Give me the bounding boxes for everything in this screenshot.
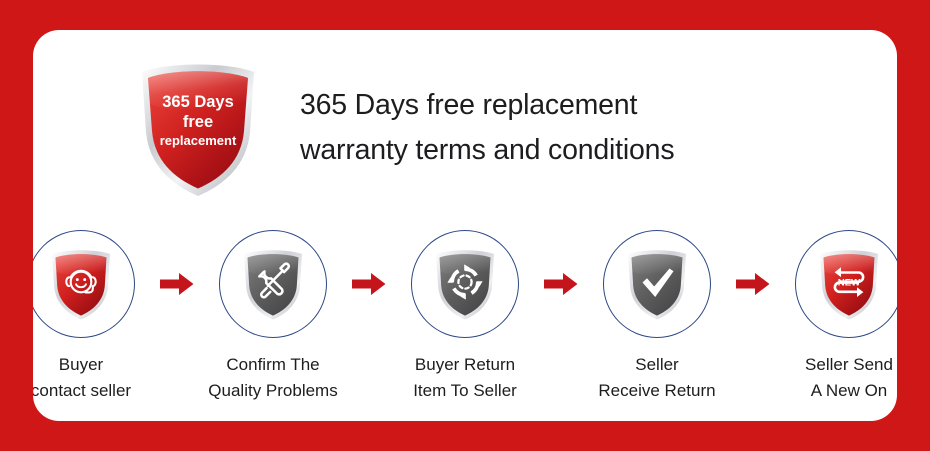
headset-smiley-icon bbox=[50, 247, 112, 321]
step-3-circle bbox=[411, 230, 519, 338]
return-arrows-icon bbox=[434, 247, 496, 321]
step-5-caption: Seller Send A New On bbox=[805, 352, 893, 404]
step-5-caption-line-2: A New On bbox=[805, 378, 893, 404]
arrow-3-graphic bbox=[544, 272, 578, 296]
new-exchange-graphic: NEW bbox=[818, 247, 880, 321]
step-1-caption-line-2: contact seller bbox=[33, 378, 131, 404]
warranty-banner: 365 Days free replacement 365 Days free … bbox=[0, 0, 930, 451]
wrench-screwdriver-icon bbox=[242, 247, 304, 321]
svg-text:NEW: NEW bbox=[838, 278, 861, 289]
arrow-2-graphic bbox=[352, 272, 386, 296]
step-2-caption-line-2: Quality Problems bbox=[208, 378, 337, 404]
arrow-4-graphic bbox=[736, 272, 770, 296]
warranty-shield-icon: 365 Days free replacement bbox=[138, 58, 258, 198]
step-4-caption-line-2: Receive Return bbox=[598, 378, 715, 404]
step-4-caption-line-1: Seller bbox=[598, 352, 715, 378]
warranty-panel: 365 Days free replacement 365 Days free … bbox=[33, 30, 897, 421]
new-exchange-icon: NEW bbox=[818, 247, 880, 321]
step-buyer-contact-seller[interactable]: Buyer contact seller bbox=[33, 230, 155, 404]
step-1-caption-line-1: Buyer bbox=[33, 352, 131, 378]
step-2-caption: Confirm The Quality Problems bbox=[208, 352, 337, 404]
title-line-1: 365 Days free replacement bbox=[300, 83, 674, 128]
process-steps: Buyer contact seller bbox=[33, 230, 897, 404]
wrench-screwdriver-graphic bbox=[242, 247, 304, 321]
step-3-caption-line-2: Item To Seller bbox=[413, 378, 517, 404]
title-line-2: warranty terms and conditions bbox=[300, 128, 674, 173]
step-seller-send-new[interactable]: NEW Seller Send A New On bbox=[775, 230, 897, 404]
return-arrows-graphic bbox=[434, 247, 496, 321]
arrow-right-icon bbox=[347, 230, 391, 338]
step-5-circle: NEW bbox=[795, 230, 897, 338]
step-confirm-quality-problems[interactable]: Confirm The Quality Problems bbox=[199, 230, 347, 404]
step-buyer-return-item[interactable]: Buyer Return Item To Seller bbox=[391, 230, 539, 404]
step-2-circle bbox=[219, 230, 327, 338]
step-4-circle bbox=[603, 230, 711, 338]
step-3-caption: Buyer Return Item To Seller bbox=[413, 352, 517, 404]
warranty-shield-graphic bbox=[138, 58, 258, 198]
arrow-right-icon bbox=[155, 230, 199, 338]
step-3-caption-line-1: Buyer Return bbox=[413, 352, 517, 378]
step-5-caption-line-1: Seller Send bbox=[805, 352, 893, 378]
checkmark-icon bbox=[626, 247, 688, 321]
step-seller-receive-return[interactable]: Seller Receive Return bbox=[583, 230, 731, 404]
arrow-right-icon bbox=[731, 230, 775, 338]
arrow-right-icon bbox=[539, 230, 583, 338]
step-1-caption: Buyer contact seller bbox=[33, 352, 131, 404]
step-4-caption: Seller Receive Return bbox=[598, 352, 715, 404]
arrow-1-graphic bbox=[160, 272, 194, 296]
headset-smiley-graphic bbox=[50, 247, 112, 321]
step-2-caption-line-1: Confirm The bbox=[208, 352, 337, 378]
step-1-circle bbox=[33, 230, 135, 338]
page-title: 365 Days free replacement warranty terms… bbox=[300, 83, 674, 173]
checkmark-graphic bbox=[626, 247, 688, 321]
banner-header: 365 Days free replacement 365 Days free … bbox=[33, 48, 897, 208]
